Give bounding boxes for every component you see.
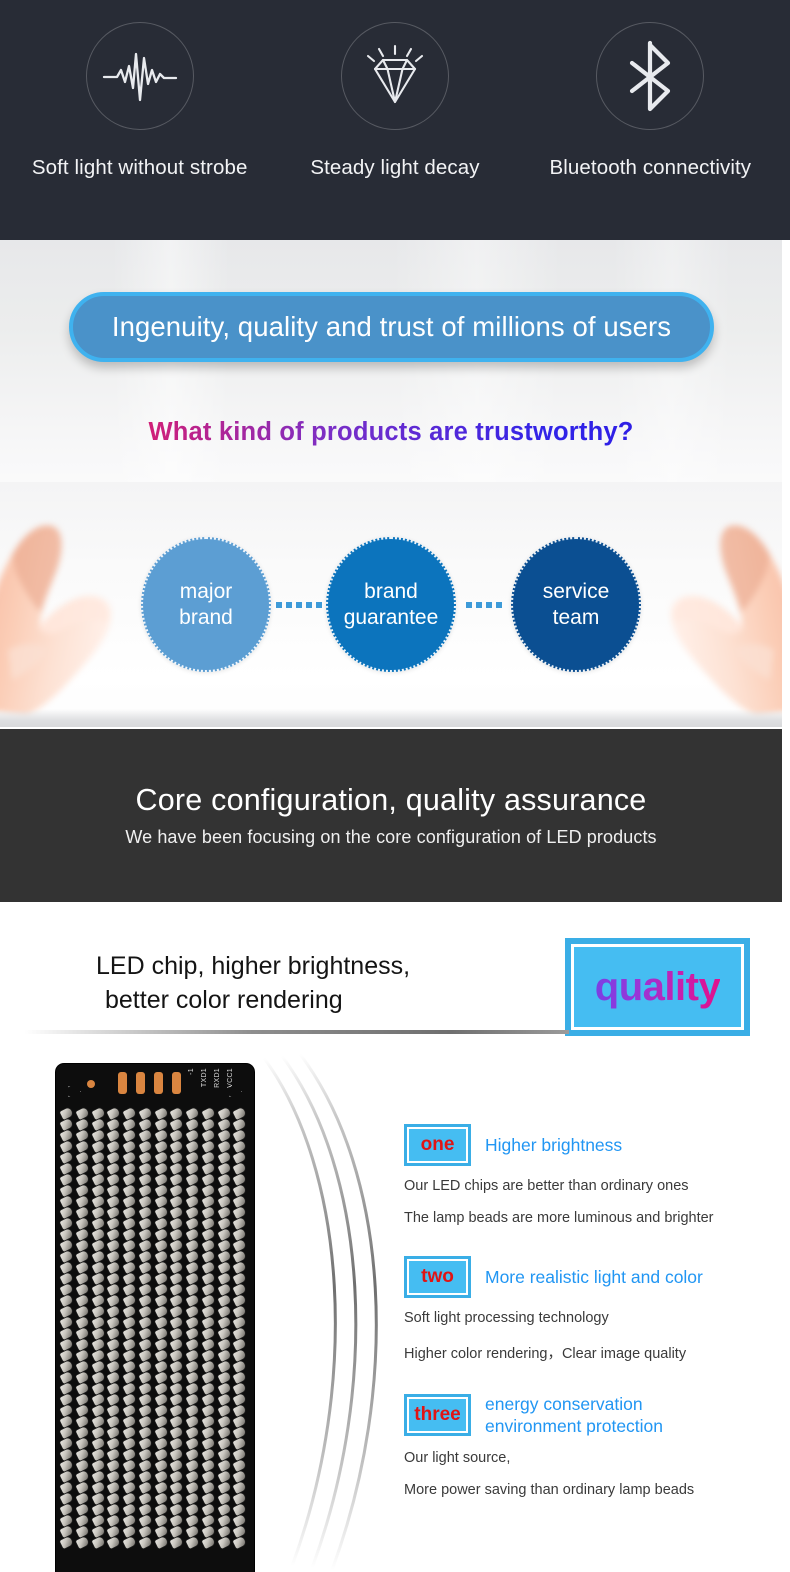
led-bead [217,1338,231,1351]
led-bead [233,1195,247,1208]
led-bead [75,1107,89,1120]
led-bead [170,1129,184,1142]
led-bead [75,1217,89,1230]
led-bead [123,1470,137,1483]
led-bead [60,1316,74,1329]
led-bead [154,1426,168,1439]
led-bead [154,1239,168,1252]
led-bead [154,1107,168,1120]
led-bead [60,1228,74,1241]
led-bead [60,1261,74,1274]
led-bead [170,1492,184,1505]
photo-floor [0,709,782,727]
led-bead [201,1206,215,1219]
led-bead [217,1162,231,1175]
led-bead [170,1283,184,1296]
led-bead [138,1437,152,1450]
led-bead [170,1393,184,1406]
led-bead [217,1107,231,1120]
led-bead [91,1151,105,1164]
led-board-header: -1 TXD1 RXD1 VCC1 [56,1064,254,1104]
led-bead [91,1393,105,1406]
led-bead [217,1140,231,1153]
feature-lines: Our light source, More power saving than… [404,1450,774,1498]
led-bead [75,1371,89,1384]
led-bead [138,1283,152,1296]
heading-divider [24,1030,569,1034]
feature-title-line-2: environment protection [485,1415,663,1437]
led-bead [91,1349,105,1362]
led-bead [107,1151,121,1164]
slogan-text: Ingenuity, quality and trust of millions… [112,311,671,343]
led-bead [75,1459,89,1472]
dotted-connector [271,602,326,608]
led-bead [233,1514,247,1527]
feature-bluetooth: Bluetooth connectivity [525,22,775,180]
led-bead [186,1437,200,1450]
led-bead [201,1470,215,1483]
led-bead [107,1492,121,1505]
board-label-rxd1: RXD1 [214,1068,221,1088]
led-bead [154,1261,168,1274]
led-bead [217,1503,231,1516]
led-bead [138,1206,152,1219]
feature-header: one Higher brightness [404,1124,774,1166]
led-bead [217,1349,231,1362]
led-bead [75,1294,89,1307]
led-bead [201,1151,215,1164]
led-bead [186,1173,200,1186]
led-bead [154,1437,168,1450]
led-bead [107,1294,121,1307]
led-bead [138,1371,152,1384]
led-bead [170,1338,184,1351]
led-bead [233,1470,247,1483]
led-bead [138,1184,152,1197]
led-bead [170,1382,184,1395]
led-bead [170,1239,184,1252]
led-bead [217,1371,231,1384]
chip-heading-line-1: LED chip, higher brightness, [96,950,566,984]
core-subtitle: We have been focusing on the core config… [125,827,656,848]
led-bead [107,1239,121,1252]
led-bead [91,1503,105,1516]
led-bead [138,1261,152,1274]
led-bead [233,1525,247,1538]
connector-pad [136,1072,145,1094]
trust-circle-service-team: service team [511,537,641,672]
led-bead [123,1382,137,1395]
led-bead [217,1305,231,1318]
led-bead [154,1316,168,1329]
led-bead [138,1305,152,1318]
led-bead [60,1327,74,1340]
led-bead [233,1261,247,1274]
led-bead [138,1382,152,1395]
led-bead [60,1393,74,1406]
led-bead [107,1525,121,1538]
led-bead [123,1514,137,1527]
led-bead [217,1415,231,1428]
led-bead [75,1382,89,1395]
led-bead [138,1173,152,1186]
led-bead [91,1316,105,1329]
led-bead [186,1393,200,1406]
led-bead [217,1316,231,1329]
led-bead [75,1140,89,1153]
led-bead [107,1338,121,1351]
led-bead [75,1261,89,1274]
led-bead [60,1206,74,1219]
led-bead [170,1448,184,1461]
led-bead [60,1184,74,1197]
led-bead [170,1162,184,1175]
led-bead [75,1250,89,1263]
led-bead [91,1228,105,1241]
led-bead [60,1349,74,1362]
led-bead [170,1404,184,1417]
led-bead [60,1118,74,1131]
core-title: Core configuration, quality assurance [136,783,647,818]
led-bead [123,1492,137,1505]
led-bead [60,1437,74,1450]
trust-banner-section: Ingenuity, quality and trust of millions… [0,240,782,727]
feature-line: Higher color rendering，Clear image quali… [404,1342,774,1363]
led-bead [186,1283,200,1296]
led-bead [91,1261,105,1274]
led-bead [201,1503,215,1516]
led-bead [107,1162,121,1175]
led-bead [186,1261,200,1274]
led-bead [217,1129,231,1142]
led-bead [91,1360,105,1373]
led-bead [75,1173,89,1186]
led-bead [233,1272,247,1285]
led-bead [186,1184,200,1197]
led-bead [201,1481,215,1494]
led-bead [186,1404,200,1417]
led-bead [91,1118,105,1131]
led-bead [91,1459,105,1472]
feature-title-line-1: energy conservation [485,1393,663,1415]
led-bead [138,1393,152,1406]
led-bead [123,1129,137,1142]
led-bead [201,1371,215,1384]
led-bead [60,1481,74,1494]
led-bead [123,1118,137,1131]
led-bead [60,1470,74,1483]
led-bead [123,1338,137,1351]
led-bead [123,1481,137,1494]
led-bead [201,1437,215,1450]
led-bead [91,1514,105,1527]
led-bead [217,1283,231,1296]
led-bead [154,1206,168,1219]
led-bead [60,1305,74,1318]
led-bead [138,1481,152,1494]
led-bead [138,1536,152,1549]
led-bead [186,1338,200,1351]
led-bead [91,1371,105,1384]
led-bead [60,1217,74,1230]
led-bead [91,1338,105,1351]
led-bead [91,1206,105,1219]
led-bead [201,1327,215,1340]
led-bead [60,1151,74,1164]
led-bead [154,1415,168,1428]
led-bead [186,1349,200,1362]
led-bead [138,1349,152,1362]
led-bead [60,1294,74,1307]
led-bead [75,1305,89,1318]
led-bead [186,1239,200,1252]
led-bead [91,1437,105,1450]
led-bead [201,1250,215,1263]
chip-feature-list: one Higher brightness Our LED chips are … [404,1124,774,1528]
led-bead [154,1481,168,1494]
led-bead [186,1129,200,1142]
led-bead [138,1327,152,1340]
led-bead [154,1371,168,1384]
led-bead [154,1404,168,1417]
led-bead [170,1514,184,1527]
led-bead [107,1173,121,1186]
led-bead [201,1140,215,1153]
led-bead [186,1316,200,1329]
led-bead [233,1151,247,1164]
led-bead [186,1151,200,1164]
led-bead [170,1261,184,1274]
led-bead [233,1503,247,1516]
led-bead [154,1283,168,1296]
led-bead [123,1415,137,1428]
led-bead [123,1437,137,1450]
led-bead [201,1118,215,1131]
led-bead [201,1349,215,1362]
led-bead [107,1195,121,1208]
led-bead [107,1415,121,1428]
led-bead [186,1140,200,1153]
led-bead [201,1228,215,1241]
feature-line: Our LED chips are better than ordinary o… [404,1178,774,1194]
led-bead [233,1393,247,1406]
led-bead [138,1151,152,1164]
led-bead [138,1316,152,1329]
number-badge-two: two [404,1256,471,1298]
led-bead [170,1206,184,1219]
led-bead [154,1272,168,1285]
trust-question: What kind of products are trustworthy? [0,418,782,447]
led-bead [75,1239,89,1252]
led-bead [154,1514,168,1527]
led-bead [186,1206,200,1219]
led-bead [138,1459,152,1472]
led-bead [91,1195,105,1208]
led-bead [233,1338,247,1351]
led-bead [60,1415,74,1428]
led-bead [75,1118,89,1131]
led-bead [138,1294,152,1307]
led-bead [75,1404,89,1417]
led-bead [91,1173,105,1186]
led-bead [138,1514,152,1527]
core-configuration-band: Core configuration, quality assurance We… [0,729,782,902]
slogan-pill: Ingenuity, quality and trust of millions… [69,292,714,362]
led-bead [60,1140,74,1153]
led-bead [138,1228,152,1241]
alignment-arrow-icon [229,1086,242,1097]
chip-heading: LED chip, higher brightness, better colo… [96,950,566,1017]
led-bead [233,1228,247,1241]
number-badge-text: three [414,1404,460,1426]
led-bead [154,1360,168,1373]
led-bead [123,1283,137,1296]
led-bead [75,1448,89,1461]
led-bead [107,1283,121,1296]
circle-line-1: major [180,579,233,605]
feature-line: The lamp beads are more luminous and bri… [404,1210,774,1226]
alignment-arrow-icon [68,1086,81,1097]
led-bead [201,1404,215,1417]
led-bead [186,1250,200,1263]
led-bead [91,1492,105,1505]
led-bead [170,1173,184,1186]
led-bead [154,1349,168,1362]
led-bead [217,1250,231,1263]
led-bead [201,1360,215,1373]
led-bead [154,1162,168,1175]
led-board-image: -1 TXD1 RXD1 VCC1 [56,1064,254,1572]
led-bead [91,1272,105,1285]
led-bead [75,1184,89,1197]
led-bead [233,1382,247,1395]
led-bead [107,1536,121,1549]
led-bead [201,1525,215,1538]
led-bead [107,1393,121,1406]
led-bead [186,1382,200,1395]
led-bead [233,1448,247,1461]
feature-title: energy conservation environment protecti… [485,1393,663,1438]
led-bead [154,1217,168,1230]
led-bead [170,1371,184,1384]
led-bead [217,1393,231,1406]
number-badge-inner: three [407,1397,468,1433]
led-bead [154,1536,168,1549]
feature-title: Higher brightness [485,1134,622,1156]
led-bead [60,1195,74,1208]
led-bead [154,1118,168,1131]
led-bead [107,1206,121,1219]
led-bead [201,1536,215,1549]
quality-badge: quality [565,938,750,1036]
led-bead [217,1536,231,1549]
led-bead [170,1118,184,1131]
led-bead [154,1195,168,1208]
led-bead [91,1283,105,1296]
led-bead [217,1239,231,1252]
led-bead [60,1107,74,1120]
led-bead [75,1393,89,1406]
led-bead [233,1404,247,1417]
led-bead [60,1272,74,1285]
led-bead [138,1503,152,1516]
led-bead [123,1184,137,1197]
board-label-vcc1: VCC1 [227,1068,234,1088]
circle-line-1: brand [364,579,418,605]
led-bead [91,1162,105,1175]
led-bead [75,1481,89,1494]
led-bead [154,1250,168,1263]
led-bead [186,1294,200,1307]
led-bead [75,1162,89,1175]
led-bead [217,1481,231,1494]
led-bead [170,1470,184,1483]
feature-lines: Our LED chips are better than ordinary o… [404,1178,774,1226]
trust-circles: major brand brand guarantee service team [0,482,782,727]
led-bead [186,1327,200,1340]
led-bead [170,1107,184,1120]
led-bead [91,1536,105,1549]
led-bead [107,1327,121,1340]
led-bead [170,1316,184,1329]
led-bead [123,1151,137,1164]
led-bead [123,1426,137,1439]
led-bead [201,1129,215,1142]
led-bead [75,1129,89,1142]
led-bead [91,1415,105,1428]
led-bead [60,1239,74,1252]
led-bead [107,1140,121,1153]
led-bead [60,1459,74,1472]
led-bead [233,1118,247,1131]
led-bead [60,1536,74,1549]
quality-badge-text: quality [595,965,720,1010]
led-bead [75,1525,89,1538]
led-bead [60,1250,74,1263]
led-bead [201,1415,215,1428]
led-bead [217,1404,231,1417]
led-bead [154,1305,168,1318]
led-bead [60,1426,74,1439]
led-bead [107,1250,121,1263]
led-bead [75,1228,89,1241]
led-bead [186,1305,200,1318]
led-bead [217,1448,231,1461]
led-bead [75,1283,89,1296]
led-bead [107,1118,121,1131]
led-bead [123,1272,137,1285]
led-bead [91,1404,105,1417]
led-bead [123,1305,137,1318]
led-bead [107,1305,121,1318]
led-bead [233,1140,247,1153]
led-bead [123,1294,137,1307]
led-bead [138,1492,152,1505]
led-bead [154,1140,168,1153]
led-bead [107,1448,121,1461]
led-bead [186,1415,200,1428]
led-bead [123,1162,137,1175]
led-bead [154,1228,168,1241]
led-bead [60,1514,74,1527]
led-bead [186,1228,200,1241]
led-bead [107,1459,121,1472]
led-bead [217,1184,231,1197]
led-bead [170,1305,184,1318]
led-bead [233,1415,247,1428]
led-bead [170,1294,184,1307]
led-bead [201,1272,215,1285]
